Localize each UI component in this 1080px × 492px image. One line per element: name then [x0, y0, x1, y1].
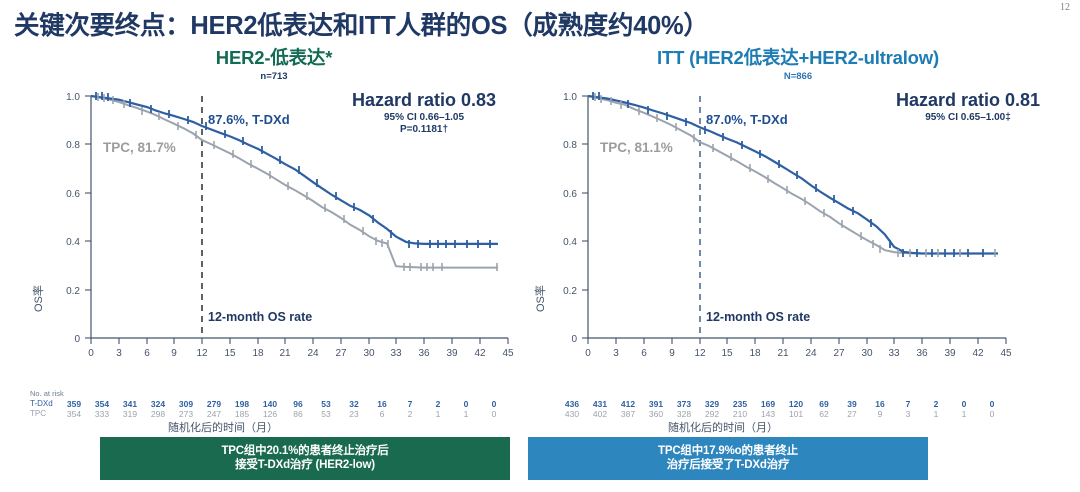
risk-cell: 3 — [894, 409, 922, 419]
callout-left-line2: 接受T-DXd治疗 (HER2-low) — [221, 459, 388, 473]
risk-cell: 329 — [698, 399, 726, 409]
risk-cell: 2 — [922, 399, 950, 409]
risk-cell: 69 — [810, 399, 838, 409]
risk-table-left: No. at risk T-DXd 359 354 341 324 309 27… — [30, 389, 508, 419]
svg-text:45: 45 — [1000, 348, 1012, 359]
svg-text:15: 15 — [721, 348, 733, 359]
panel-heading-right: ITT (HER2低表达+HER2-ultralow) — [528, 44, 1068, 70]
risk-cell: 185 — [228, 409, 256, 419]
risk-cell: 27 — [838, 409, 866, 419]
risk-cell: 0 — [978, 399, 1006, 409]
risk-cell: 140 — [256, 399, 284, 409]
svg-text:0.8: 0.8 — [563, 140, 577, 151]
svg-text:24: 24 — [805, 348, 817, 359]
risk-cell: 309 — [172, 399, 200, 409]
risk-cell: 402 — [586, 409, 614, 419]
risk-cell: 298 — [144, 409, 172, 419]
risk-cell: 86 — [284, 409, 312, 419]
risk-cell: 324 — [144, 399, 172, 409]
table-row: TPC 354 333 319 298 273 247 185 126 86 5… — [30, 409, 508, 419]
svg-text:6: 6 — [641, 348, 647, 359]
callout-right-line1: TPC组中17.9%o的患者终止 — [658, 445, 798, 459]
svg-text:30: 30 — [861, 348, 873, 359]
annotation-tdxd-right: 87.0%, T-DXd — [706, 112, 788, 127]
svg-text:0.2: 0.2 — [563, 286, 577, 297]
risk-table-right: No. at risk T-DXd 436 431 412 391 373 32… — [532, 389, 1006, 419]
svg-text:21: 21 — [777, 348, 789, 359]
risk-cell: 359 — [60, 399, 88, 409]
risk-cell: 16 — [866, 399, 894, 409]
svg-text:6: 6 — [144, 348, 150, 359]
svg-text:39: 39 — [446, 348, 458, 359]
risk-cell: 391 — [642, 399, 670, 409]
svg-text:30: 30 — [363, 348, 375, 359]
risk-cell: 2 — [424, 399, 452, 409]
panel-heading-left: HER2-低表达* — [18, 44, 530, 70]
callout-box-left: TPC组中20.1%的患者终止治疗后 接受T-DXd治疗 (HER2-low) — [100, 437, 510, 480]
callout-right-line2: 治疗后接受了T-DXd治疗 — [658, 459, 798, 473]
svg-text:0: 0 — [585, 348, 591, 359]
risk-cell: 23 — [340, 409, 368, 419]
risk-cell: 373 — [670, 399, 698, 409]
panel-her2-low: HER2-低表达* n=713 Hazard ratio 0.83 95% CI… — [18, 44, 530, 444]
risk-cell: 1 — [922, 409, 950, 419]
risk-cell: 292 — [698, 409, 726, 419]
risk-cell: 169 — [754, 399, 782, 409]
risk-table-body-right: T-DXd 436 431 412 391 373 329 235 169 12… — [532, 399, 1006, 419]
table-row: TPC 430 402 387 360 328 292 210 143 101 … — [532, 409, 1006, 419]
annotation-tpc-right: TPC, 81.1% — [600, 140, 673, 155]
km-plot-svg-right: 1.0 0.8 0.6 0.4 0.2 0 0 3 6 9 12 15 18 2… — [528, 88, 1068, 388]
annotation-12month-right: 12-month OS rate — [706, 310, 810, 324]
y-axis-title-right: OS率 — [532, 285, 548, 312]
svg-text:0.8: 0.8 — [66, 140, 80, 151]
risk-cell: 210 — [726, 409, 754, 419]
x-axis-title-right: 随机化后的时间（月） — [668, 419, 778, 435]
risk-cell: 7 — [894, 399, 922, 409]
risk-cell: 273 — [172, 409, 200, 419]
slide-number: 12 — [1060, 2, 1070, 13]
svg-text:36: 36 — [418, 348, 430, 359]
risk-cell: 341 — [116, 399, 144, 409]
x-axis-title-left: 随机化后的时间（月） — [168, 419, 278, 435]
risk-cell: 430 — [558, 409, 586, 419]
svg-text:9: 9 — [669, 348, 675, 359]
svg-text:1.0: 1.0 — [66, 92, 80, 103]
risk-cell: 1 — [950, 409, 978, 419]
table-row: T-DXd 359 354 341 324 309 279 198 140 96… — [30, 399, 508, 409]
annotation-12month-left: 12-month OS rate — [208, 310, 312, 324]
svg-text:12: 12 — [694, 348, 706, 359]
svg-text:33: 33 — [390, 348, 402, 359]
km-chart-left: 1.0 0.8 0.6 0.4 0.2 0 0 3 6 9 12 15 18 2… — [18, 88, 530, 388]
svg-text:15: 15 — [224, 348, 236, 359]
risk-cell: 32 — [340, 399, 368, 409]
risk-cell: 0 — [452, 399, 480, 409]
risk-cell: 319 — [116, 409, 144, 419]
risk-cell: 235 — [726, 399, 754, 409]
svg-text:36: 36 — [916, 348, 928, 359]
km-plot-svg-left: 1.0 0.8 0.6 0.4 0.2 0 0 3 6 9 12 15 18 2… — [18, 88, 530, 388]
risk-cell: 247 — [200, 409, 228, 419]
svg-text:12: 12 — [196, 348, 208, 359]
risk-cell: 53 — [312, 399, 340, 409]
svg-text:0.6: 0.6 — [563, 189, 577, 200]
risk-cell: 412 — [614, 399, 642, 409]
svg-text:27: 27 — [833, 348, 845, 359]
svg-text:0.6: 0.6 — [66, 189, 80, 200]
panel-sample-size-right: N=866 — [528, 71, 1068, 82]
annotation-tpc-left: TPC, 81.7% — [103, 140, 176, 155]
svg-text:18: 18 — [252, 348, 264, 359]
risk-cell: 53 — [312, 409, 340, 419]
svg-text:1.0: 1.0 — [563, 92, 577, 103]
risk-cell: 101 — [782, 409, 810, 419]
svg-text:0: 0 — [88, 348, 94, 359]
svg-text:18: 18 — [749, 348, 761, 359]
risk-cell: 143 — [754, 409, 782, 419]
risk-cell: 354 — [88, 399, 116, 409]
risk-cell: 7 — [396, 399, 424, 409]
risk-cell: 360 — [642, 409, 670, 419]
risk-table-body-left: T-DXd 359 354 341 324 309 279 198 140 96… — [30, 399, 508, 419]
risk-cell: 39 — [838, 399, 866, 409]
risk-caption-left: No. at risk — [30, 389, 508, 398]
svg-text:0.2: 0.2 — [66, 286, 80, 297]
callout-left-line1: TPC组中20.1%的患者终止治疗后 — [221, 445, 388, 459]
svg-text:33: 33 — [888, 348, 900, 359]
svg-text:3: 3 — [116, 348, 122, 359]
svg-text:27: 27 — [335, 348, 347, 359]
risk-row-label: T-DXd — [30, 399, 60, 409]
risk-cell: 96 — [284, 399, 312, 409]
svg-text:0.4: 0.4 — [66, 237, 80, 248]
risk-cell: 62 — [810, 409, 838, 419]
svg-text:0: 0 — [74, 334, 80, 345]
risk-cell: 16 — [368, 399, 396, 409]
page-title: 关键次要终点：HER2低表达和ITT人群的OS（成熟度约40%） — [14, 5, 1014, 42]
svg-text:0.4: 0.4 — [563, 237, 577, 248]
panel-itt: ITT (HER2低表达+HER2-ultralow) N=866 Hazard… — [528, 44, 1068, 444]
risk-cell: 0 — [480, 399, 508, 409]
table-row: T-DXd 436 431 412 391 373 329 235 169 12… — [532, 399, 1006, 409]
risk-cell: 1 — [452, 409, 480, 419]
callout-box-right: TPC组中17.9%o的患者终止 治疗后接受了T-DXd治疗 — [528, 437, 928, 480]
risk-cell: 6 — [368, 409, 396, 419]
risk-cell: 126 — [256, 409, 284, 419]
svg-text:42: 42 — [474, 348, 486, 359]
risk-cell: 120 — [782, 399, 810, 409]
risk-cell: 387 — [614, 409, 642, 419]
svg-text:9: 9 — [171, 348, 177, 359]
risk-cell: 0 — [950, 399, 978, 409]
risk-cell: 198 — [228, 399, 256, 409]
risk-cell: 0 — [978, 409, 1006, 419]
y-axis-title-left: OS率 — [30, 285, 46, 312]
risk-cell: 328 — [670, 409, 698, 419]
risk-cell: 354 — [60, 409, 88, 419]
svg-text:24: 24 — [307, 348, 319, 359]
risk-cell: 436 — [558, 399, 586, 409]
svg-text:45: 45 — [502, 348, 514, 359]
risk-cell: 431 — [586, 399, 614, 409]
annotation-tdxd-left: 87.6%, T-DXd — [208, 112, 290, 127]
risk-row-label: TPC — [30, 409, 60, 419]
risk-cell: 333 — [88, 409, 116, 419]
risk-cell: 9 — [866, 409, 894, 419]
svg-text:0: 0 — [571, 334, 577, 345]
risk-cell: 279 — [200, 399, 228, 409]
svg-text:3: 3 — [613, 348, 619, 359]
svg-text:42: 42 — [972, 348, 984, 359]
risk-cell: 1 — [424, 409, 452, 419]
panel-sample-size-left: n=713 — [18, 71, 530, 82]
svg-text:21: 21 — [279, 348, 291, 359]
km-chart-right: 1.0 0.8 0.6 0.4 0.2 0 0 3 6 9 12 15 18 2… — [528, 88, 1068, 388]
risk-cell: 0 — [480, 409, 508, 419]
svg-text:39: 39 — [944, 348, 956, 359]
risk-cell: 2 — [396, 409, 424, 419]
